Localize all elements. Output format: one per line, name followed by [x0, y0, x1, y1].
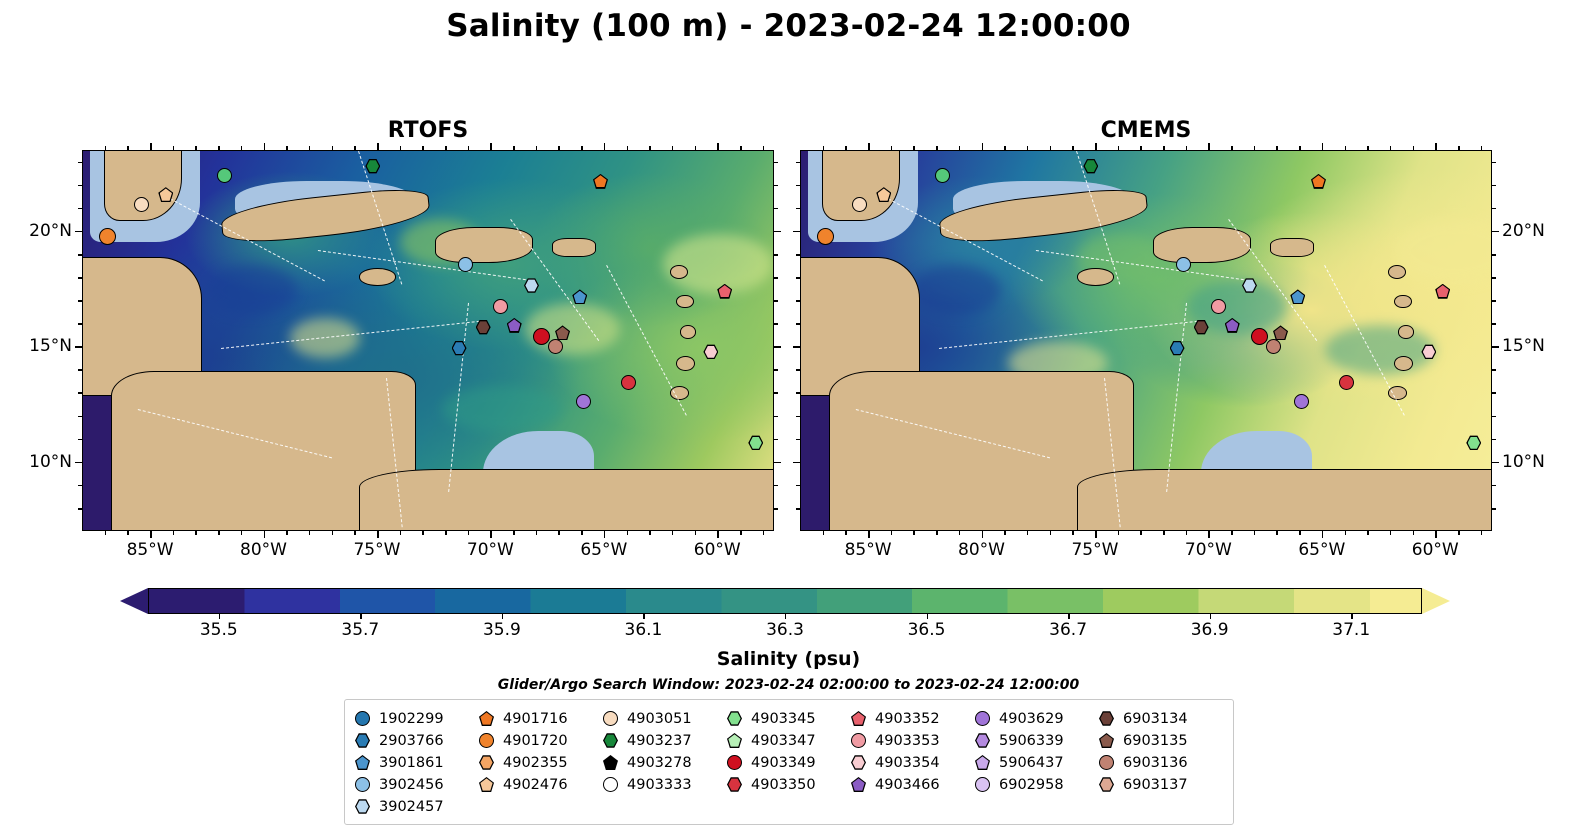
y-axis-label-right: 15°N	[1502, 336, 1576, 356]
legend-item-label: 4903353	[875, 733, 940, 749]
legend-item-label: 6903135	[1123, 733, 1188, 749]
x-axis-tick-top	[468, 146, 470, 150]
colorbar-gradient	[148, 588, 1422, 614]
float-marker-circle-icon	[355, 777, 370, 792]
legend-item[interactable]: 4903278	[603, 752, 727, 773]
legend-item	[975, 796, 1099, 817]
y-axis-tick-right	[1492, 369, 1496, 371]
legend-item[interactable]: 4903466	[851, 774, 975, 795]
float-marker-hexagon-icon	[1099, 777, 1114, 792]
x-axis-tick	[1435, 531, 1437, 538]
x-axis-tick-top	[150, 143, 152, 150]
map-float-marker	[572, 289, 587, 304]
y-axis-tick-left	[78, 416, 82, 418]
x-axis-tick-top	[1118, 146, 1120, 150]
float-marker-hexagon-icon	[355, 799, 370, 814]
map-float-marker	[1435, 284, 1450, 299]
colorbar-tick-label: 36.1	[608, 620, 678, 640]
colorbar-tick-label: 36.5	[892, 620, 962, 640]
legend-item-label: 4903278	[627, 755, 692, 771]
x-axis-tick-top	[868, 143, 870, 150]
x-axis-tick-top	[823, 146, 825, 150]
y-axis-tick-left	[78, 208, 82, 210]
x-axis-tick-top	[377, 143, 379, 150]
float-marker-circle-icon	[1099, 755, 1114, 770]
x-axis-tick	[581, 531, 583, 535]
panel-title-rtofs: RTOFS	[82, 118, 774, 143]
x-axis-tick-top	[1435, 143, 1437, 150]
x-axis-label: 60°W	[672, 540, 762, 560]
float-marker-circle-icon	[355, 711, 370, 726]
map-float-marker	[1266, 339, 1281, 354]
x-axis-tick	[649, 531, 651, 535]
y-axis-tick-right	[774, 392, 778, 394]
x-axis-tick-top	[1322, 143, 1324, 150]
y-axis-tick-right	[1492, 162, 1496, 164]
y-axis-tick-left	[796, 369, 800, 371]
x-axis-label: 70°W	[445, 540, 535, 560]
x-axis-tick	[1208, 531, 1210, 538]
x-axis-tick-top	[1163, 146, 1165, 150]
float-legend: 1902299490171649030514903345490335249036…	[344, 699, 1234, 825]
float-marker-pentagon-icon	[727, 733, 742, 748]
y-axis-tick-right	[774, 254, 778, 256]
map-float-marker	[576, 394, 591, 409]
y-axis-tick-left	[78, 300, 82, 302]
x-axis-tick-top	[672, 146, 674, 150]
legend-item-label: 4903352	[875, 711, 940, 727]
y-axis-tick-left	[793, 231, 800, 233]
x-axis-tick	[1231, 531, 1233, 535]
legend-item	[727, 796, 851, 817]
map-float-marker	[134, 197, 149, 212]
x-axis-tick	[982, 531, 984, 538]
legend-item-label: 3901861	[379, 755, 444, 771]
colorbar-tick-label: 37.1	[1316, 620, 1386, 640]
legend-item-label: 4903333	[627, 777, 692, 793]
y-axis-tick-right	[1492, 346, 1499, 348]
x-axis-tick-top	[1367, 146, 1369, 150]
legend-item	[479, 796, 603, 817]
y-axis-tick-right	[774, 208, 778, 210]
x-axis-tick	[195, 531, 197, 535]
float-marker-hexagon-icon	[1099, 711, 1114, 726]
x-axis-tick-top	[218, 146, 220, 150]
legend-item-label: 4903051	[627, 711, 692, 727]
float-marker-circle-icon	[851, 733, 866, 748]
legend-item[interactable]: 6903134	[1099, 708, 1223, 729]
legend-item[interactable]: 4903333	[603, 774, 727, 795]
x-axis-tick	[377, 531, 379, 538]
y-axis-tick-left	[75, 346, 82, 348]
x-axis-tick-top	[581, 146, 583, 150]
legend-item[interactable]: 6903137	[1099, 774, 1223, 795]
x-axis-tick	[695, 531, 697, 535]
y-axis-tick-right	[1492, 462, 1499, 464]
legend-item[interactable]: 3902456	[355, 774, 479, 795]
y-axis-tick-left	[78, 323, 82, 325]
x-axis-tick	[913, 531, 915, 535]
y-axis-label-left: 10°N	[0, 452, 72, 472]
map-float-marker	[1339, 375, 1354, 390]
x-axis-tick-top	[1276, 146, 1278, 150]
legend-item-label: 5906437	[999, 755, 1064, 771]
x-axis-tick	[1004, 531, 1006, 535]
float-marker-pentagon-icon	[355, 755, 370, 770]
x-axis-tick-top	[740, 146, 742, 150]
map-float-marker	[817, 228, 834, 245]
x-axis-tick	[845, 531, 847, 535]
legend-item-label: 4903350	[751, 777, 816, 793]
map-float-marker	[1294, 394, 1309, 409]
legend-item[interactable]: 6903135	[1099, 730, 1223, 751]
map-float-marker	[703, 344, 718, 359]
y-axis-tick-left	[796, 254, 800, 256]
x-axis-label: 70°W	[1163, 540, 1253, 560]
panel-title-cmems: CMEMS	[800, 118, 1492, 143]
y-axis-tick-left	[78, 277, 82, 279]
x-axis-tick-top	[1481, 146, 1483, 150]
map-float-marker	[1176, 257, 1191, 272]
x-axis-tick	[1390, 531, 1392, 535]
y-axis-tick-left	[796, 439, 800, 441]
legend-item-label: 4903629	[999, 711, 1064, 727]
legend-item-label: 4903354	[875, 755, 940, 771]
x-axis-tick-top	[891, 146, 893, 150]
x-axis-tick-top	[1254, 146, 1256, 150]
legend-item[interactable]: 4901720	[479, 730, 603, 751]
legend-item[interactable]: 4903349	[727, 752, 851, 773]
float-marker-hexagon-icon	[355, 733, 370, 748]
x-axis-tick	[400, 531, 402, 535]
x-axis-tick-top	[1072, 146, 1074, 150]
legend-item[interactable]: 4903629	[975, 708, 1099, 729]
colorbar-tick	[219, 614, 220, 619]
colorbar: 35.535.735.936.136.336.536.736.937.1	[120, 588, 1450, 614]
y-axis-tick-right	[774, 300, 778, 302]
legend-item-label: 6903137	[1123, 777, 1188, 793]
x-axis-tick-top	[1458, 146, 1460, 150]
y-axis-tick-right	[1492, 277, 1496, 279]
y-axis-label-right: 20°N	[1502, 221, 1576, 241]
y-axis-tick-left	[78, 392, 82, 394]
y-axis-tick-right	[1492, 208, 1496, 210]
x-axis-tick	[332, 531, 334, 535]
y-axis-tick-left	[796, 485, 800, 487]
x-axis-tick	[558, 531, 560, 535]
float-marker-hexagon-icon	[727, 777, 742, 792]
float-marker-hexagon-icon	[851, 755, 866, 770]
x-axis-tick-top	[1186, 146, 1188, 150]
map-float-marker	[621, 375, 636, 390]
y-axis-tick-right	[1492, 485, 1496, 487]
y-axis-label-right: 10°N	[1502, 452, 1576, 472]
colorbar-tick	[1068, 614, 1069, 619]
x-axis-tick	[627, 531, 629, 535]
x-axis-tick	[763, 531, 765, 535]
map-float-marker	[1225, 318, 1240, 333]
map-float-marker	[876, 187, 891, 202]
float-marker-pentagon-icon	[975, 755, 990, 770]
x-axis-tick-top	[1345, 146, 1347, 150]
x-axis-label: 60°W	[1390, 540, 1480, 560]
y-axis-tick-right	[1492, 185, 1496, 187]
colorbar-tick	[1210, 614, 1211, 619]
x-axis-tick-top	[695, 146, 697, 150]
colorbar-tick-label: 35.7	[325, 620, 395, 640]
legend-item[interactable]: 4903347	[727, 730, 851, 751]
legend-item[interactable]: 5906437	[975, 752, 1099, 773]
y-axis-tick-left	[78, 185, 82, 187]
legend-item[interactable]: 3901861	[355, 752, 479, 773]
x-axis-tick-top	[173, 146, 175, 150]
x-axis-tick	[1050, 531, 1052, 535]
x-axis-tick	[105, 531, 107, 535]
map-panel-cmems[interactable]	[800, 150, 1492, 531]
legend-item-label: 4903466	[875, 777, 940, 793]
x-axis-tick-top	[604, 143, 606, 150]
x-axis-label: 85°W	[823, 540, 913, 560]
legend-item[interactable]: 4903354	[851, 752, 975, 773]
map-float-marker	[507, 318, 522, 333]
float-marker-circle-icon	[479, 733, 494, 748]
y-axis-tick-left	[796, 392, 800, 394]
legend-item[interactable]: 4903051	[603, 708, 727, 729]
map-float-marker	[1311, 174, 1326, 189]
x-axis-tick	[127, 531, 129, 535]
x-axis-tick	[959, 531, 961, 535]
y-axis-tick-left	[75, 231, 82, 233]
x-axis-tick	[468, 531, 470, 535]
x-axis-tick	[173, 531, 175, 535]
map-float-marker	[99, 228, 116, 245]
x-axis-tick-top	[1140, 146, 1142, 150]
y-axis-tick-right	[774, 231, 781, 233]
x-axis-tick-top	[332, 146, 334, 150]
legend-item[interactable]: 1902299	[355, 708, 479, 729]
y-axis-tick-right	[774, 185, 778, 187]
map-float-marker	[1290, 289, 1305, 304]
legend-item-label: 2903766	[379, 733, 444, 749]
float-marker-circle-icon	[603, 777, 618, 792]
x-axis-tick-top	[649, 146, 651, 150]
float-marker-hexagon-icon	[975, 733, 990, 748]
x-axis-label: 65°W	[559, 540, 649, 560]
y-axis-tick-left	[796, 416, 800, 418]
y-axis-tick-left	[796, 277, 800, 279]
x-axis-tick	[241, 531, 243, 535]
y-axis-tick-left	[78, 162, 82, 164]
legend-item-label: 6903136	[1123, 755, 1188, 771]
map-float-marker	[555, 325, 570, 340]
x-axis-tick-top	[1299, 146, 1301, 150]
map-float-marker	[493, 299, 508, 314]
x-axis-tick-top	[1050, 146, 1052, 150]
y-axis-tick-right	[774, 162, 778, 164]
map-float-marker	[1242, 278, 1257, 293]
legend-item[interactable]: 4903345	[727, 708, 851, 729]
x-axis-tick	[1413, 531, 1415, 535]
colorbar-tick	[1351, 614, 1352, 619]
y-axis-tick-right	[774, 439, 778, 441]
map-float-marker	[452, 341, 467, 356]
x-axis-tick	[354, 531, 356, 535]
colorbar-tick-label: 35.5	[184, 620, 254, 640]
y-axis-tick-right	[774, 508, 778, 510]
y-axis-tick-right	[1492, 300, 1496, 302]
y-axis-tick-left	[796, 162, 800, 164]
float-marker-hexagon-icon	[603, 733, 618, 748]
x-axis-tick-top	[913, 146, 915, 150]
float-marker-circle-icon	[727, 755, 742, 770]
y-axis-label-left: 15°N	[0, 336, 72, 356]
legend-grid: 1902299490171649030514903345490335249036…	[355, 708, 1223, 817]
x-axis-label: 75°W	[1050, 540, 1140, 560]
y-axis-tick-right	[774, 462, 781, 464]
legend-item[interactable]: 4901716	[479, 708, 603, 729]
y-axis-tick-right	[1492, 392, 1496, 394]
x-axis-tick	[1345, 531, 1347, 535]
x-axis-tick-top	[490, 143, 492, 150]
float-marker-hexagon-icon	[727, 711, 742, 726]
map-float-marker	[217, 168, 232, 183]
legend-item[interactable]: 6903136	[1099, 752, 1223, 773]
colorbar-tick	[502, 614, 503, 619]
legend-item	[603, 796, 727, 817]
float-marker-pentagon-icon	[1099, 733, 1114, 748]
x-axis-tick-top	[127, 146, 129, 150]
legend-item[interactable]: 2903766	[355, 730, 479, 751]
x-axis-tick-top	[400, 146, 402, 150]
legend-item[interactable]: 4903352	[851, 708, 975, 729]
x-axis-tick-top	[241, 146, 243, 150]
x-axis-label: 65°W	[1277, 540, 1367, 560]
map-float-marker	[1211, 299, 1226, 314]
legend-item[interactable]: 5906339	[975, 730, 1099, 751]
legend-item-label: 4902355	[503, 755, 568, 771]
y-axis-tick-right	[1492, 416, 1496, 418]
map-float-marker	[476, 320, 491, 335]
colorbar-tick-label: 35.9	[467, 620, 537, 640]
legend-item-label: 4903345	[751, 711, 816, 727]
legend-item[interactable]: 4902476	[479, 774, 603, 795]
map-float-marker	[593, 174, 608, 189]
search-window-subtitle: Glider/Argo Search Window: 2023-02-24 02…	[0, 677, 1577, 693]
figure-title: Salinity (100 m) - 2023-02-24 12:00:00	[0, 8, 1577, 44]
x-axis-tick-top	[195, 146, 197, 150]
y-axis-tick-left	[78, 485, 82, 487]
legend-item-label: 4903237	[627, 733, 692, 749]
x-axis-label: 80°W	[219, 540, 309, 560]
y-axis-label-left: 20°N	[0, 221, 72, 241]
y-axis-tick-left	[796, 185, 800, 187]
y-axis-tick-left	[793, 346, 800, 348]
y-axis-tick-left	[796, 208, 800, 210]
legend-item-label: 6902958	[999, 777, 1064, 793]
x-axis-tick-top	[763, 146, 765, 150]
map-float-marker	[1466, 435, 1481, 450]
legend-item[interactable]: 6902958	[975, 774, 1099, 795]
x-axis-tick-top	[959, 146, 961, 150]
y-axis-tick-right	[1492, 254, 1496, 256]
x-axis-tick	[1140, 531, 1142, 535]
float-markers-rtofs	[83, 151, 773, 530]
x-axis-tick	[740, 531, 742, 535]
y-axis-tick-left	[793, 462, 800, 464]
legend-item[interactable]: 4903350	[727, 774, 851, 795]
map-panel-rtofs[interactable]	[82, 150, 774, 531]
map-float-marker	[748, 435, 763, 450]
x-axis-tick-top	[309, 146, 311, 150]
legend-item-label: 5906339	[999, 733, 1064, 749]
x-axis-tick-top	[513, 146, 515, 150]
colorbar-label: Salinity (psu)	[0, 648, 1577, 670]
float-marker-pentagon-icon	[851, 711, 866, 726]
x-axis-tick	[936, 531, 938, 535]
y-axis-tick-right	[774, 416, 778, 418]
x-axis-tick-top	[1095, 143, 1097, 150]
float-markers-cmems	[801, 151, 1491, 530]
colorbar-extend-low	[120, 588, 148, 614]
x-axis-tick	[1458, 531, 1460, 535]
x-axis-tick-top	[264, 143, 266, 150]
float-marker-pentagon-icon	[851, 777, 866, 792]
x-axis-label: 80°W	[937, 540, 1027, 560]
y-axis-tick-right	[1492, 323, 1496, 325]
map-float-marker	[935, 168, 950, 183]
y-axis-tick-right	[774, 323, 778, 325]
map-float-marker	[458, 257, 473, 272]
y-axis-tick-left	[78, 439, 82, 441]
legend-item[interactable]: 4903237	[603, 730, 727, 751]
map-float-marker	[1421, 344, 1436, 359]
float-marker-pentagon-icon	[479, 711, 494, 726]
x-axis-tick-top	[422, 146, 424, 150]
x-axis-tick-top	[1390, 146, 1392, 150]
x-axis-tick-top	[1231, 146, 1233, 150]
x-axis-tick	[490, 531, 492, 538]
legend-item[interactable]: 3902457	[355, 796, 479, 817]
x-axis-tick	[604, 531, 606, 538]
colorbar-tick	[927, 614, 928, 619]
x-axis-tick	[309, 531, 311, 535]
x-axis-tick-top	[982, 143, 984, 150]
legend-item-label: 3902457	[379, 799, 444, 815]
float-marker-circle-icon	[975, 777, 990, 792]
x-axis-tick	[218, 531, 220, 535]
colorbar-tick-label: 36.7	[1033, 620, 1103, 640]
legend-item-label: 4903347	[751, 733, 816, 749]
x-axis-label: 75°W	[332, 540, 422, 560]
y-axis-tick-right	[774, 485, 778, 487]
map-float-marker	[717, 284, 732, 299]
x-axis-tick	[1095, 531, 1097, 538]
x-axis-tick-top	[936, 146, 938, 150]
colorbar-tick-label: 36.3	[750, 620, 820, 640]
legend-item	[1099, 796, 1223, 817]
x-axis-tick	[536, 531, 538, 535]
x-axis-tick	[1072, 531, 1074, 535]
x-axis-tick	[1299, 531, 1301, 535]
legend-item[interactable]: 4903353	[851, 730, 975, 751]
y-axis-tick-right	[774, 277, 778, 279]
map-float-marker	[365, 159, 380, 174]
colorbar-tick-label: 36.9	[1175, 620, 1245, 640]
x-axis-tick-top	[536, 146, 538, 150]
y-axis-tick-left	[78, 254, 82, 256]
map-float-marker	[548, 339, 563, 354]
legend-item[interactable]: 4902355	[479, 752, 603, 773]
